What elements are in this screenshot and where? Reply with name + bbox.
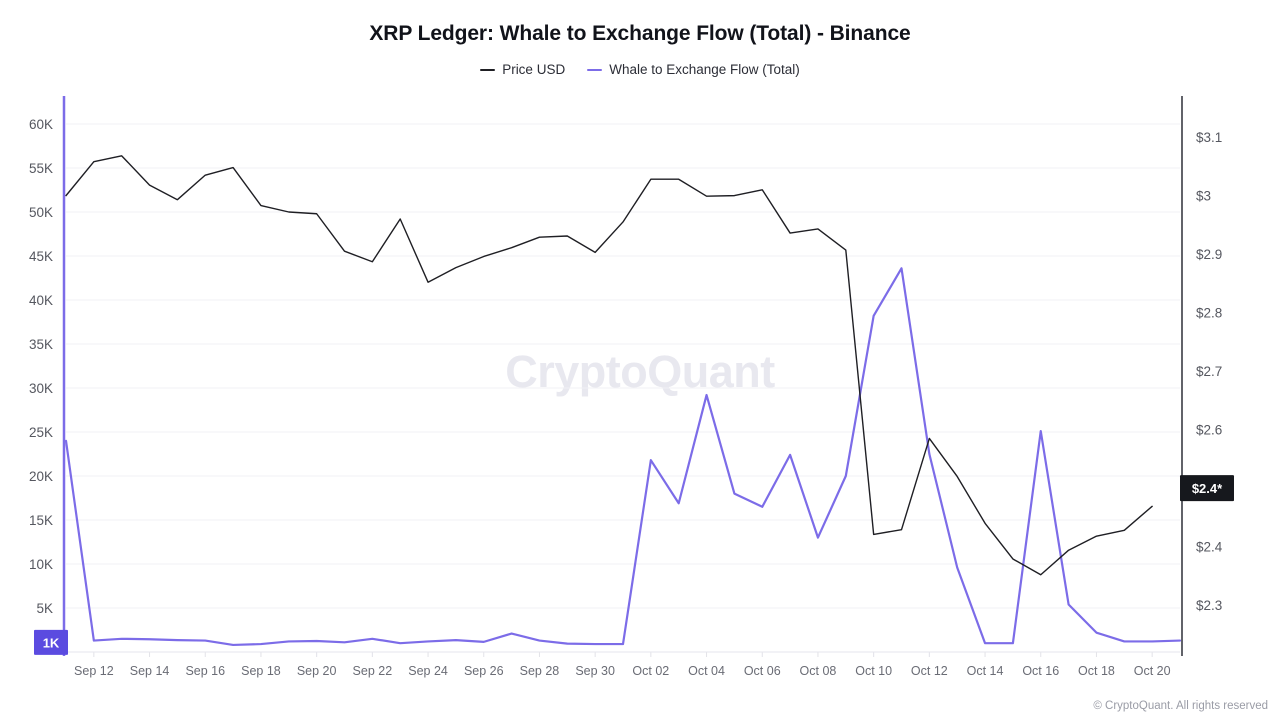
x-axis-tick-label: Sep 16 (185, 664, 225, 678)
x-axis-tick-label: Sep 30 (575, 664, 615, 678)
right-axis-value-badge: $2.4* (1180, 475, 1234, 501)
right-axis-tick-label: $2.3 (1196, 598, 1222, 613)
left-axis-tick-label: 5K (36, 601, 53, 616)
left-axis-value-badge-label: 1K (43, 635, 60, 650)
left-axis-tick-label: 45K (29, 249, 53, 264)
x-axis-tick-label: Sep 20 (297, 664, 337, 678)
series-line-whale-flow[interactable] (66, 268, 1180, 645)
right-axis-tick-label: $2.9 (1196, 247, 1222, 262)
chart-container: XRP Ledger: Whale to Exchange Flow (Tota… (0, 0, 1280, 720)
left-axis-tick-label: 15K (29, 513, 53, 528)
right-axis-tick-label: $3.1 (1196, 130, 1222, 145)
x-axis-tick-label: Oct 02 (632, 664, 669, 678)
x-axis-tick-label: Sep 26 (464, 664, 504, 678)
x-axis-tick-label: Sep 18 (241, 664, 281, 678)
x-axis-tick-label: Sep 22 (353, 664, 393, 678)
x-axis-tick-label: Oct 12 (911, 664, 948, 678)
left-axis-tick-label: 35K (29, 337, 53, 352)
left-axis-tick-label: 25K (29, 425, 53, 440)
x-axis-tick-label: Oct 08 (800, 664, 837, 678)
x-axis-tick-label: Oct 20 (1134, 664, 1171, 678)
series-line-price-usd[interactable] (66, 156, 1152, 575)
left-axis-tick-label: 20K (29, 469, 53, 484)
x-axis-tick-label: Oct 16 (1022, 664, 1059, 678)
x-axis-tick-label: Oct 04 (688, 664, 725, 678)
x-axis-tick-label: Oct 10 (855, 664, 892, 678)
left-axis-tick-label: 60K (29, 117, 53, 132)
x-axis-tick-label: Sep 12 (74, 664, 114, 678)
x-axis-tick-label: Oct 14 (967, 664, 1004, 678)
right-axis-tick-label: $3 (1196, 189, 1211, 204)
x-axis-tick-label: Sep 14 (130, 664, 170, 678)
left-axis-tick-label: 55K (29, 161, 53, 176)
x-axis-tick-label: Sep 28 (520, 664, 560, 678)
left-axis-tick-label: 10K (29, 557, 53, 572)
right-axis-tick-label: $2.6 (1196, 423, 1222, 438)
right-axis-value-badge-label: $2.4* (1192, 481, 1223, 496)
chart-plot-area: Sep 12Sep 14Sep 16Sep 18Sep 20Sep 22Sep … (0, 0, 1280, 720)
left-axis-tick-label: 30K (29, 381, 53, 396)
x-axis-tick-label: Sep 24 (408, 664, 448, 678)
left-axis-tick-label: 50K (29, 205, 53, 220)
right-axis-tick-label: $2.7 (1196, 364, 1222, 379)
copyright-footer: © CryptoQuant. All rights reserved (1093, 700, 1268, 712)
right-axis-tick-label: $2.8 (1196, 306, 1222, 321)
x-axis-tick-label: Oct 06 (744, 664, 781, 678)
left-axis-value-badge: 1K (34, 630, 68, 655)
right-axis-tick-label: $2.4 (1196, 540, 1223, 555)
left-axis-tick-label: 40K (29, 293, 53, 308)
x-axis-tick-label: Oct 18 (1078, 664, 1115, 678)
